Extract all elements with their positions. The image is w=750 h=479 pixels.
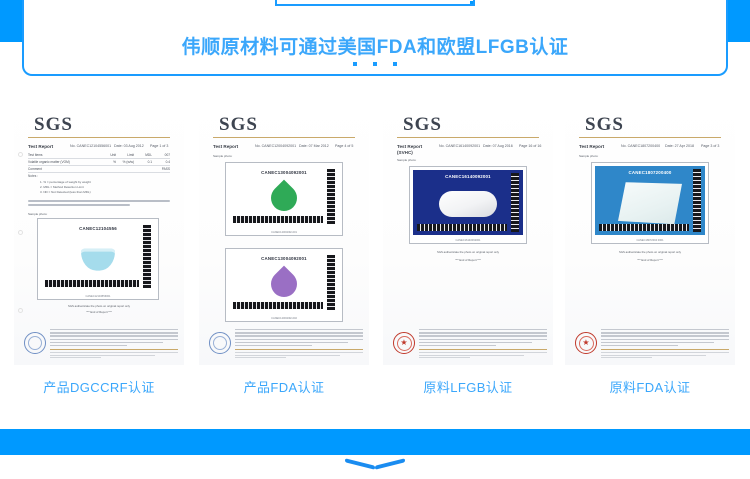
sample-code: CANEC13004092001 [229, 256, 339, 261]
report-sublabel: (SVHC) [397, 150, 413, 155]
cell-unit [98, 167, 116, 171]
cell-result: 007 [152, 153, 170, 157]
certificate-card[interactable]: SGS Test Report (SVHC) No. CANEC16140092… [383, 100, 553, 365]
footer-address-lines [419, 329, 547, 348]
dot-icon [393, 62, 397, 66]
photo-caption: CANEC16140092001 [410, 239, 526, 242]
report-page: Page 4 of 5 [335, 144, 353, 148]
body-copy [28, 200, 170, 208]
certificate-caption-dgccrf: 产品DGCCRF认证 [14, 377, 184, 396]
dot-icon [353, 62, 357, 66]
report-number: No. CANEC16140092001 [439, 144, 480, 148]
header-rule [213, 137, 355, 138]
sample-code: CANEC13004092001 [229, 170, 339, 175]
product-drop-shape-green [266, 179, 303, 216]
photo-stage: CANEC13004092001 [229, 166, 339, 227]
cell-mdl [134, 167, 152, 171]
banner-subtitle: 伟顺原材料可通过美国FDA和欧盟LFGB认证 [24, 32, 726, 59]
note-item: 1. % = percentage of weight by weight [40, 180, 91, 184]
dot-icon [373, 62, 377, 66]
photo-stage: CANEC13004092001 [229, 252, 339, 313]
ruler-horizontal-icon [417, 224, 507, 231]
header-rule [397, 137, 539, 138]
sample-code: CANEC12104556 [41, 226, 155, 231]
certificate-footer: ★ [383, 323, 553, 365]
end-of-report-note: *** End of Report *** [565, 258, 735, 262]
sample-photo: CANEC12104556 CANEC12104556001 [37, 218, 159, 300]
sample-photo: CANEC16140092001 CANEC16140092001 [409, 166, 527, 244]
authenticate-note: SGS authenticate the photo on original r… [14, 304, 184, 308]
cell-unit: % [98, 160, 116, 164]
product-sheet-shape [618, 182, 682, 224]
report-date: Date: 27 Apr 2018 [665, 144, 694, 148]
cell-limit [116, 167, 134, 171]
certificate-caption-product-fda: 产品FDA认证 [199, 377, 369, 396]
photo-caption: CANEC12104556001 [38, 295, 158, 298]
banner-frame: 检测认证报告 伟顺原材料可通过美国FDA和欧盟LFGB认证 [22, 0, 728, 76]
certificate-card[interactable]: SGS Test Report No. CANEC12104556001 Dat… [14, 100, 184, 365]
sample-label: Sample photo: [213, 154, 232, 158]
ruler-horizontal-icon [233, 216, 323, 223]
report-date: Date: 07 Aug 2016 [483, 144, 513, 148]
ruler-vertical-icon [693, 169, 701, 232]
punch-hole-icon [18, 152, 23, 157]
footer-rule [601, 349, 729, 350]
certificate-caption-material-fda: 原料FDA认证 [565, 377, 735, 396]
results-table: Test Items Unit Limit MDL 007 Volatile o… [28, 152, 170, 173]
sample-code: CANEC1807200400 [595, 170, 705, 175]
ruler-vertical-icon [327, 169, 335, 224]
sgs-logo: SGS [34, 114, 73, 136]
scroll-down-chevron-icon[interactable] [345, 462, 405, 478]
report-date: Date: 03 Aug 2012 [114, 144, 144, 148]
cell-name: Test Items [28, 153, 98, 157]
cell-mdl: 0.1 [134, 160, 152, 164]
certificate-page: SGS Test Report No. CANEC12104556001 Dat… [14, 100, 184, 365]
page-banner: 检测认证报告 伟顺原材料可通过美国FDA和欧盟LFGB认证 [0, 0, 750, 80]
bottom-bar [0, 429, 750, 455]
authenticate-note: SGS authenticate the photo on original r… [565, 250, 735, 254]
report-label: Test Report [213, 144, 238, 149]
note-item: 3. ND = Not Detected (less than MDL) [40, 190, 91, 194]
sample-label: Sample photo: [579, 154, 598, 158]
banner-edge-right [728, 0, 750, 42]
photo-stage: CANEC1807200400 [595, 166, 705, 235]
sgs-logo: SGS [403, 114, 442, 136]
footer-fineprint [419, 352, 547, 360]
sample-label: Sample photo: [28, 212, 47, 216]
product-drop-shape-purple [266, 265, 303, 302]
report-label: Test Report [397, 144, 422, 149]
certificate-footer [199, 323, 369, 365]
end-of-report-note: *** End of Report *** [383, 258, 553, 262]
ruler-horizontal-icon [233, 302, 323, 309]
sample-code: CANEC16140092001 [413, 174, 523, 179]
footer-rule [235, 349, 363, 350]
report-page: Page 1 of 3 [150, 144, 168, 148]
report-number: No. CANEC1807200400 [621, 144, 660, 148]
star-icon: ★ [582, 339, 589, 347]
certificate-page: SGS Test Report No. CANEC12004092001 Dat… [199, 100, 369, 365]
ruler-vertical-icon [327, 255, 335, 310]
sgs-logo: SGS [219, 114, 258, 136]
note-item: 2. MDL = Method Detection Limit [40, 185, 84, 189]
end-of-report-note: *** End of Report *** [14, 310, 184, 314]
header-rule [28, 137, 170, 138]
certificate-caption-material-lfgb: 原料LFGB认证 [383, 377, 553, 396]
report-label: Test Report [579, 144, 604, 149]
photo-stage: CANEC16140092001 [413, 170, 523, 235]
table-row: Volatile organic matter (VOM) % % (w/w) … [28, 159, 170, 166]
cell-result: PASS [152, 167, 170, 171]
product-pad-shape [439, 191, 497, 217]
report-page: Page 3 of 3 [701, 144, 719, 148]
title-corner-marker [470, 1, 475, 6]
accreditation-stamp-red: ★ [393, 332, 415, 354]
footer-rule [50, 349, 178, 350]
report-number: No. CANEC12004092001 [255, 144, 296, 148]
product-bowl-shape [81, 248, 115, 270]
report-label: Test Report [28, 144, 53, 149]
banner-edge-left [0, 0, 22, 42]
page-title: 检测认证报告 [277, 0, 473, 2]
ruler-horizontal-icon [599, 224, 689, 231]
report-page: Page 16 of 16 [519, 144, 541, 148]
footer-fineprint [235, 352, 363, 360]
table-row: Comment PASS [28, 166, 170, 173]
footer-fineprint [601, 352, 729, 360]
cell-unit: Unit [98, 153, 116, 157]
report-date: Date: 07 Mar 2012 [299, 144, 329, 148]
ruler-horizontal-icon [45, 280, 139, 287]
certificate-footer: ★ [565, 323, 735, 365]
footer-rule [419, 349, 547, 350]
sample-photo: CANEC13004092001 CANEC12004092-002 [225, 248, 343, 322]
certificate-footer [14, 323, 184, 365]
certificate-card[interactable]: SGS Test Report No. CANEC12004092001 Dat… [199, 100, 369, 365]
cell-result: 0.4 [152, 160, 170, 164]
table-row: Test Items Unit Limit MDL 007 [28, 152, 170, 159]
star-icon: ★ [400, 339, 407, 347]
banner-dots [24, 62, 726, 66]
sgs-logo: SGS [585, 114, 624, 136]
footer-address-lines [601, 329, 729, 348]
photo-caption: CANEC12004092-001 [226, 231, 342, 234]
footer-address-lines [50, 329, 178, 348]
certificate-card[interactable]: SGS Test Report No. CANEC1807200400 Date… [565, 100, 735, 365]
footer-address-lines [235, 329, 363, 348]
accreditation-stamp-red: ★ [575, 332, 597, 354]
sgs-stamp-blue [24, 332, 46, 354]
cell-limit: % (w/w) [116, 160, 134, 164]
sample-photo: CANEC13004092001 CANEC12004092-001 [225, 162, 343, 236]
ruler-vertical-icon [511, 173, 519, 232]
cell-limit: Limit [116, 153, 134, 157]
photo-caption: CANEC12004092-002 [226, 317, 342, 320]
certificate-page: SGS Test Report No. CANEC1807200400 Date… [565, 100, 735, 365]
cell-name: Volatile organic matter (VOM) [28, 160, 98, 164]
certificate-gallery: SGS Test Report No. CANEC12104556001 Dat… [0, 100, 750, 405]
photo-stage: CANEC12104556 [41, 222, 155, 291]
sample-photo: CANEC1807200400 CANEC18072004 0001 [591, 162, 709, 244]
sgs-stamp-blue [209, 332, 231, 354]
report-number: No. CANEC12104556001 [70, 144, 111, 148]
punch-hole-icon [18, 230, 23, 235]
footer-fineprint [50, 352, 178, 360]
notes-heading: Notes : [28, 174, 38, 178]
ruler-vertical-icon [143, 225, 151, 288]
authenticate-note: SGS authenticate the photo on original r… [383, 250, 553, 254]
header-rule [579, 137, 721, 138]
banner-title-box: 检测认证报告 [275, 0, 475, 6]
cell-mdl: MDL [134, 153, 152, 157]
certificate-page: SGS Test Report (SVHC) No. CANEC16140092… [383, 100, 553, 365]
photo-caption: CANEC18072004 0001 [592, 239, 708, 242]
cell-name: Comment [28, 167, 98, 171]
sample-label: Sample photo: [397, 158, 416, 162]
